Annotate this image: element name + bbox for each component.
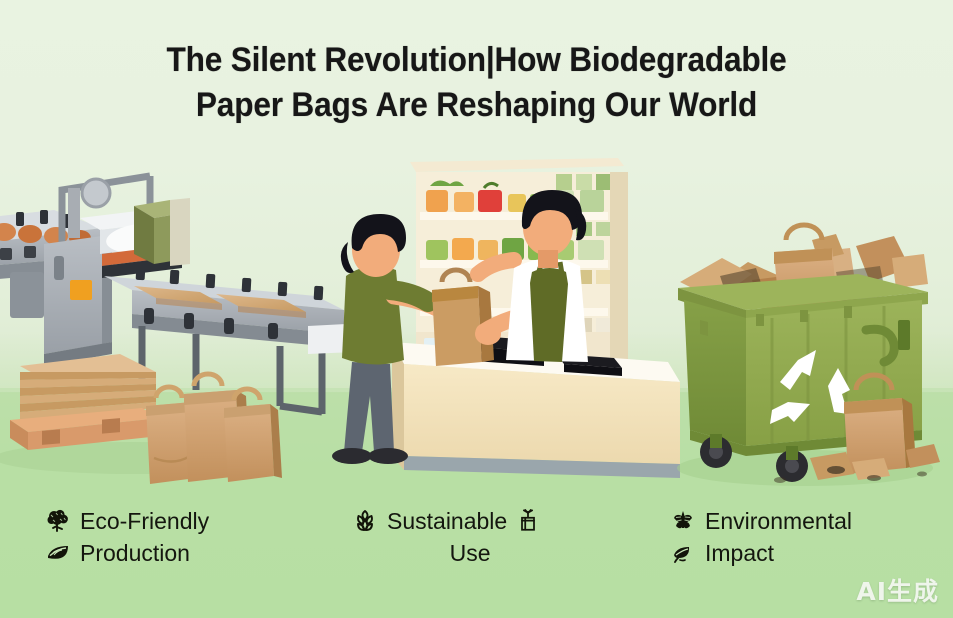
beige-module <box>170 198 190 266</box>
gantry-spool <box>82 179 110 207</box>
leaf-icon <box>45 540 71 566</box>
fern-sheaf-icon <box>670 508 696 534</box>
feature-line-2: Production <box>45 537 209 569</box>
feature-label-row: Eco-Friendly Production <box>0 503 953 589</box>
feature-line-1: Eco-Friendly <box>45 505 209 537</box>
feature-eco-friendly-production: Eco-Friendly Production <box>45 505 209 569</box>
feature-label: Impact <box>705 537 774 569</box>
broccoli-tree-icon <box>45 508 71 534</box>
machine-slot <box>54 256 64 280</box>
control-panel <box>70 280 92 300</box>
feature-line-2: Impact <box>670 537 852 569</box>
title-line-1: The Silent Revolution|How Biodegradable <box>167 41 787 79</box>
feature-sustainable-use: Sustainable Use <box>352 505 540 569</box>
infographic-poster: The Silent Revolution|How Biodegradable … <box>0 0 953 618</box>
poster-title: The Silent Revolution|How Biodegradable … <box>33 38 919 128</box>
clerk-apron <box>530 268 568 362</box>
leaf-bud-cluster-icon <box>352 508 378 534</box>
feature-label: Use <box>450 537 491 569</box>
main-machine <box>44 234 112 366</box>
title-line-2: Paper Bags Are Reshaping Our World <box>33 83 919 128</box>
feature-line-1: Environmental <box>670 505 852 537</box>
feature-label: Production <box>80 537 190 569</box>
customer-legs <box>344 362 394 452</box>
clerk-hand <box>475 323 501 345</box>
ai-watermark: AI生成 <box>856 572 939 608</box>
paper-bag-group <box>146 374 282 484</box>
feature-label: Sustainable <box>387 505 507 537</box>
feature-label: Environmental <box>705 505 852 537</box>
feature-environmental-impact: Environmental Impact <box>670 505 852 569</box>
feature-line-2: Use <box>352 537 540 569</box>
shop-scene <box>318 156 688 491</box>
seedling-leaf-icon <box>670 540 696 566</box>
customer-sleeve <box>390 290 428 302</box>
recycling-scene <box>660 218 953 493</box>
gift-bag-icon <box>516 509 540 533</box>
factory-scene <box>0 158 344 488</box>
feature-line-1: Sustainable <box>352 505 540 537</box>
shoe <box>368 448 408 464</box>
shoe <box>332 448 372 464</box>
feature-label: Eco-Friendly <box>80 505 209 537</box>
kraft-paper-stack-pallet <box>10 354 160 450</box>
